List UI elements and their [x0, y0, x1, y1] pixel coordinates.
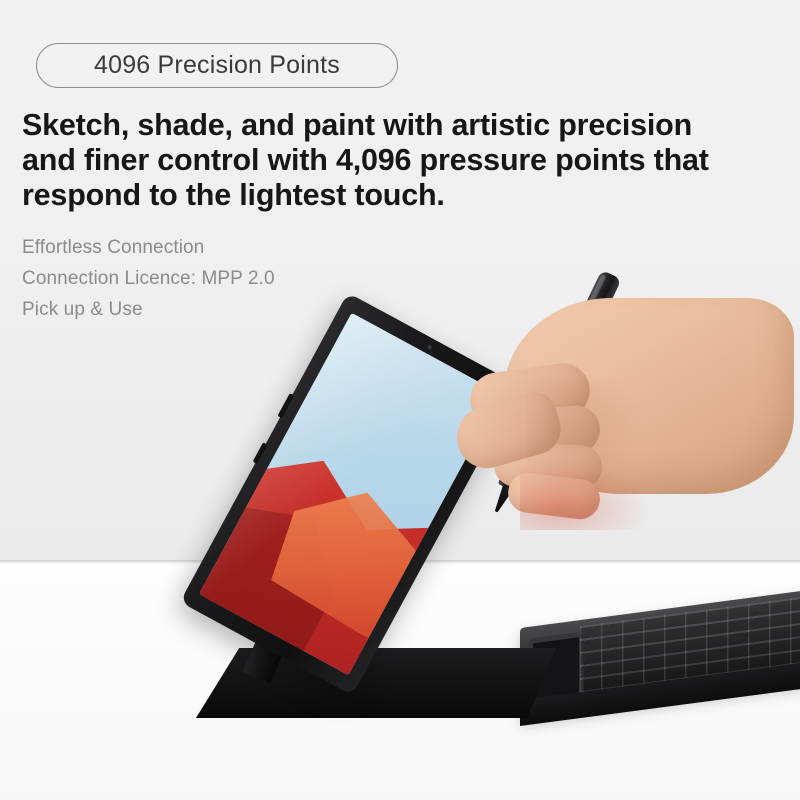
volume-button — [277, 393, 294, 418]
red-light-bounce — [520, 460, 650, 530]
product-marketing-image: 4096 Precision Points Sketch, shade, and… — [0, 0, 800, 800]
product-photo — [0, 0, 800, 800]
power-button — [253, 442, 268, 464]
hand — [430, 250, 800, 540]
